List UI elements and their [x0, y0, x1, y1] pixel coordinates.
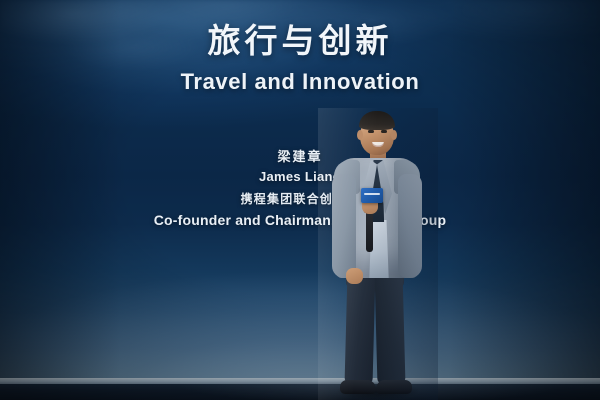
slide-title-english: Travel and Innovation: [0, 69, 600, 95]
slide-title-chinese: 旅行与创新: [0, 22, 600, 60]
microphone-logo-flag: [361, 188, 383, 203]
speaker-eye-left: [368, 130, 374, 133]
speaker-right-leg: [375, 272, 406, 385]
speaker-role-english: Co-founder and Chairman, Trip.com Group: [0, 212, 600, 228]
speaker-credit-block: 梁建章 James Liang 携程集团联合创始人 Co-founder and…: [0, 146, 600, 228]
speaker-left-leg: [345, 272, 376, 385]
slide-title-block: 旅行与创新 Travel and Innovation: [0, 22, 600, 95]
speaker-role-chinese: 携程集团联合创始人: [0, 190, 600, 207]
speaker-ear-right: [391, 130, 397, 140]
presentation-stage-photo: 旅行与创新 Travel and Innovation 梁建章 James Li…: [0, 0, 600, 400]
speaker-figure: [318, 108, 438, 400]
speaker-hair: [359, 111, 395, 130]
microphone-body: [366, 208, 373, 252]
speaker-arm-left: [332, 174, 356, 278]
speaker-arm-right: [398, 174, 422, 278]
speaker-right-shoe: [376, 380, 412, 394]
speaker-hand-left: [346, 268, 363, 284]
speaker-name-chinese: 梁建章: [0, 146, 600, 165]
speaker-name-english: James Liang: [0, 169, 600, 184]
speaker-ear-left: [357, 130, 363, 140]
speaker-eye-right: [381, 130, 387, 133]
stage-floor-reflection: [0, 384, 600, 400]
speaker-left-shoe: [340, 380, 376, 394]
